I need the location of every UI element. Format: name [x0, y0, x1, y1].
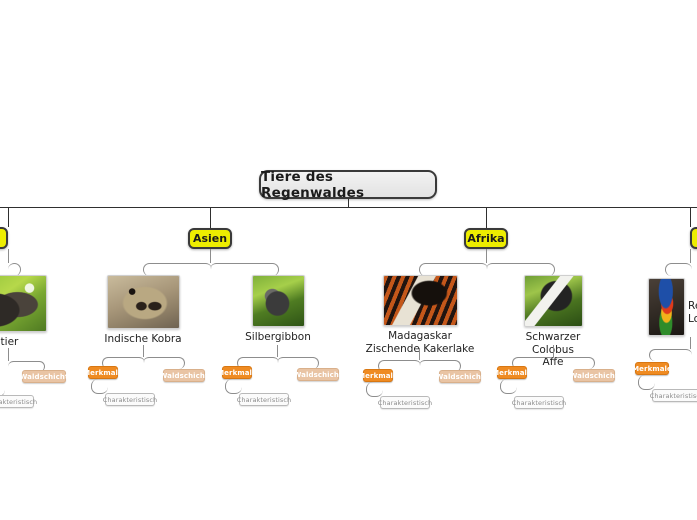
kakerlake-charakt-elbow	[366, 382, 383, 397]
root-node[interactable]: Tiere des Regenwaldes	[259, 170, 437, 199]
drop-to-region-left	[8, 207, 9, 227]
colobus-merkmale-label: Merkmale	[492, 369, 532, 377]
colobus-charakteristisch-label: Charakteristisch	[512, 399, 567, 407]
colobus-elbow-right	[553, 357, 595, 369]
kakerlake-tag-charakteristisch[interactable]: Charakteristisch	[380, 396, 430, 409]
kobra-merkmale-label: Merkmale	[83, 369, 123, 377]
lori-elbow-left	[649, 349, 692, 361]
mindmap-canvas: Tiere des Regenwaldes Asien Afrika ltier…	[0, 0, 697, 520]
gibbon-charakteristisch-label: Charakteristisch	[237, 396, 292, 404]
gibbon-merkmale-label: Merkmale	[217, 369, 257, 377]
faultier-stem	[8, 348, 9, 361]
faultier-image	[0, 275, 47, 332]
kobra-charakteristisch-label: Charakteristisch	[103, 396, 158, 404]
lori-image	[648, 278, 685, 336]
faultier-tag-charakteristisch[interactable]: Charakteristisch	[0, 395, 34, 408]
root-bus	[0, 207, 697, 208]
lori-tag-merkmale[interactable]: Merkmale	[635, 362, 669, 375]
animal-node-kakerlake[interactable]: Madagaskar Zischende Kakerlake	[355, 275, 485, 355]
faultier-tag-waldschicht[interactable]: Waldschicht	[22, 370, 66, 383]
kobra-charakt-elbow	[91, 379, 108, 394]
kakerlake-tag-merkmale[interactable]: Merkmale	[363, 369, 393, 382]
colobus-stem	[553, 345, 554, 357]
lori-charakteristisch-label: Charakteristisch	[650, 392, 697, 400]
colobus-charakt-elbow	[500, 379, 517, 394]
colobus-tag-waldschicht[interactable]: Waldschicht	[573, 369, 615, 382]
lori-merkmale-label: Merkmale	[632, 365, 672, 373]
region-node-asien[interactable]: Asien	[188, 228, 232, 249]
kakerlake-stem	[419, 348, 420, 360]
kobra-tag-merkmale[interactable]: Merkmale	[88, 366, 118, 379]
kakerlake-waldschicht-label: Waldschicht	[436, 373, 485, 381]
lori-stem	[690, 337, 691, 349]
region-label-afrika: Afrika	[467, 232, 504, 245]
region-node-afrika[interactable]: Afrika	[464, 228, 508, 249]
region-node-right-cut[interactable]	[690, 227, 697, 249]
afrika-stem	[486, 249, 487, 263]
gibbon-charakt-elbow	[225, 379, 242, 394]
colobus-tag-charakteristisch[interactable]: Charakteristisch	[514, 396, 564, 409]
kobra-elbow-right	[143, 357, 185, 369]
lori-charakt-elbow	[638, 375, 655, 390]
kakerlake-merkmale-label: Merkmale	[358, 372, 398, 380]
gibbon-caption: Silbergibbon	[238, 331, 318, 344]
kobra-tag-waldschicht[interactable]: Waldschicht	[163, 369, 205, 382]
animal-node-faultier[interactable]: ltier	[0, 275, 48, 349]
faultier-waldschicht-label: Waldschicht	[20, 373, 69, 381]
left-cut-stem	[8, 249, 9, 263]
drop-to-region-right	[690, 207, 691, 227]
gibbon-stem	[277, 345, 278, 357]
asien-stem	[210, 249, 211, 263]
gibbon-tag-merkmale[interactable]: Merkmale	[222, 366, 252, 379]
gibbon-tag-charakteristisch[interactable]: Charakteristisch	[239, 393, 289, 406]
colobus-image	[524, 275, 583, 327]
colobus-waldschicht-label: Waldschicht	[570, 372, 619, 380]
lori-caption: Regenbogen Lori	[688, 300, 697, 325]
right-cut-elbow	[665, 263, 692, 276]
drop-to-region-afrika	[486, 207, 487, 228]
kakerlake-image	[383, 275, 458, 326]
right-cut-stem	[690, 249, 691, 263]
kobra-image	[107, 275, 180, 329]
colobus-tag-merkmale[interactable]: Merkmale	[497, 366, 527, 379]
region-label-asien: Asien	[193, 232, 227, 245]
kakerlake-tag-waldschicht[interactable]: Waldschicht	[439, 370, 481, 383]
animal-node-lori[interactable]: Regenbogen Lori	[648, 278, 697, 336]
kobra-tag-charakteristisch[interactable]: Charakteristisch	[105, 393, 155, 406]
gibbon-tag-waldschicht[interactable]: Waldschicht	[297, 368, 339, 381]
kobra-waldschicht-label: Waldschicht	[160, 372, 209, 380]
kakerlake-charakteristisch-label: Charakteristisch	[378, 399, 433, 407]
animal-node-kobra[interactable]: Indische Kobra	[98, 275, 188, 346]
gibbon-waldschicht-label: Waldschicht	[294, 371, 343, 379]
gibbon-image	[252, 275, 305, 327]
lori-tag-charakteristisch[interactable]: Charakteristisch	[652, 389, 697, 402]
drop-to-region-asien	[210, 207, 211, 228]
faultier-charakteristisch-label: Charakteristisch	[0, 398, 37, 406]
faultier-caption: ltier	[0, 336, 48, 349]
kobra-caption: Indische Kobra	[98, 333, 188, 346]
kakerlake-caption: Madagaskar Zischende Kakerlake	[355, 330, 485, 355]
kobra-stem	[143, 345, 144, 357]
animal-node-gibbon[interactable]: Silbergibbon	[238, 275, 318, 344]
region-node-left-cut[interactable]	[0, 227, 8, 249]
root-label: Tiere des Regenwaldes	[261, 169, 435, 201]
